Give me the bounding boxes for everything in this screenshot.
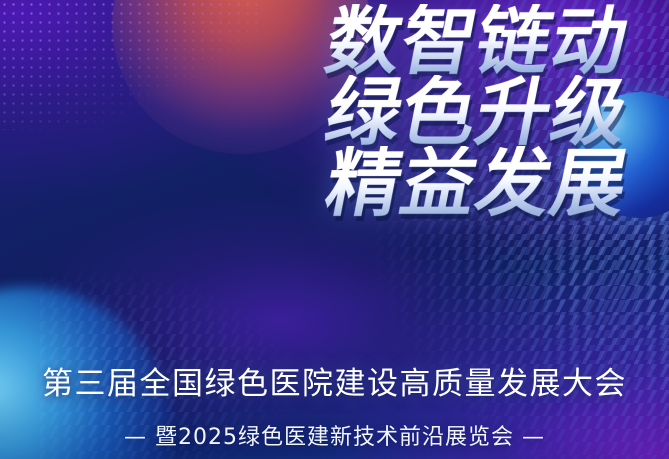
conference-title: 第三届全国绿色医院建设高质量发展大会 [0, 358, 669, 403]
headline-block: 数智链动 绿色升级 精益发展 [187, 4, 627, 223]
subtitle-block: 第三届全国绿色医院建设高质量发展大会 — 暨2025绿色医建新技术前沿展览会 — [0, 358, 669, 451]
headline-line-3: 精益发展 [180, 146, 635, 223]
conference-poster: 数智链动 绿色升级 精益发展 第三届全国绿色医院建设高质量发展大会 — 暨202… [0, 0, 669, 459]
exhibition-subtitle: — 暨2025绿色医建新技术前沿展览会 — [0, 419, 669, 451]
